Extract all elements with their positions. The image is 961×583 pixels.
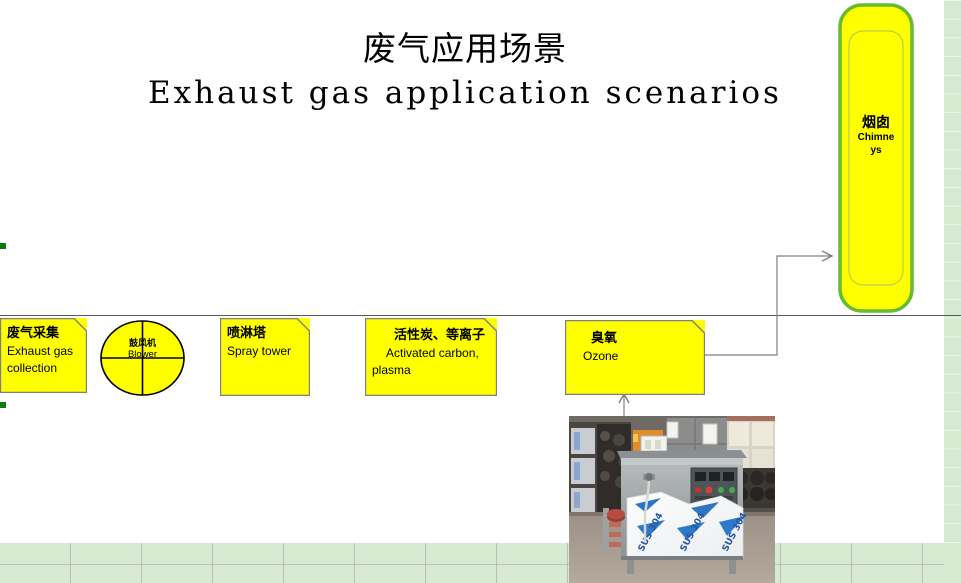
- label-chinese: 活性炭、等离子: [372, 326, 490, 345]
- page-title-english: Exhaust gas application scenarios: [0, 75, 930, 111]
- green-corner-mark-upper: [0, 243, 6, 249]
- process-box-chimneys[interactable]: 烟囱 Chimneys: [838, 3, 914, 313]
- label-chinese: 废气采集: [7, 324, 80, 343]
- label-chinese: 臭氧: [583, 329, 698, 348]
- spreadsheet-grid-right-column: [944, 0, 961, 583]
- diagram-canvas: 废气应用场景 Exhaust gas application scenarios…: [0, 0, 961, 583]
- label-english: Spray tower: [227, 343, 303, 360]
- page-title-chinese: 废气应用场景: [0, 22, 930, 70]
- process-box-label: 喷淋塔 Spray tower: [220, 318, 310, 396]
- label-english: Activated carbon, plasma: [372, 345, 490, 380]
- process-box-label: 臭氧 Ozone: [565, 320, 705, 395]
- process-box-spray-tower[interactable]: 喷淋塔 Spray tower: [220, 318, 310, 396]
- label-english: Exhaust gas collection: [7, 343, 80, 378]
- process-box-ozone[interactable]: 臭氧 Ozone: [565, 320, 705, 395]
- chimney-shape: [838, 3, 914, 313]
- label-english: Ozone: [583, 348, 698, 365]
- process-shape-blower[interactable]: 鼓风机 Blower: [100, 320, 185, 396]
- process-box-label: 废气采集 Exhaust gas collection: [0, 318, 87, 393]
- connector-ozone-to-chimney: [700, 248, 840, 358]
- blower-circle-icon: [100, 320, 185, 396]
- ozone-generator-photo: SUS 304 SUS 304 SUS 304: [569, 416, 775, 583]
- spreadsheet-grid-bottom-right-corner: [944, 543, 961, 583]
- photo-illustration: SUS 304 SUS 304 SUS 304: [569, 416, 775, 583]
- process-box-label: 活性炭、等离子 Activated carbon, plasma: [365, 318, 497, 396]
- spreadsheet-grid-bottom-rows: [0, 543, 944, 583]
- process-box-activated-carbon-plasma[interactable]: 活性炭、等离子 Activated carbon, plasma: [365, 318, 497, 396]
- process-box-exhaust-gas-collection[interactable]: 废气采集 Exhaust gas collection: [0, 318, 87, 393]
- label-chinese: 喷淋塔: [227, 324, 303, 343]
- horizontal-flow-line: [0, 315, 961, 316]
- green-corner-mark-lower: [0, 402, 6, 408]
